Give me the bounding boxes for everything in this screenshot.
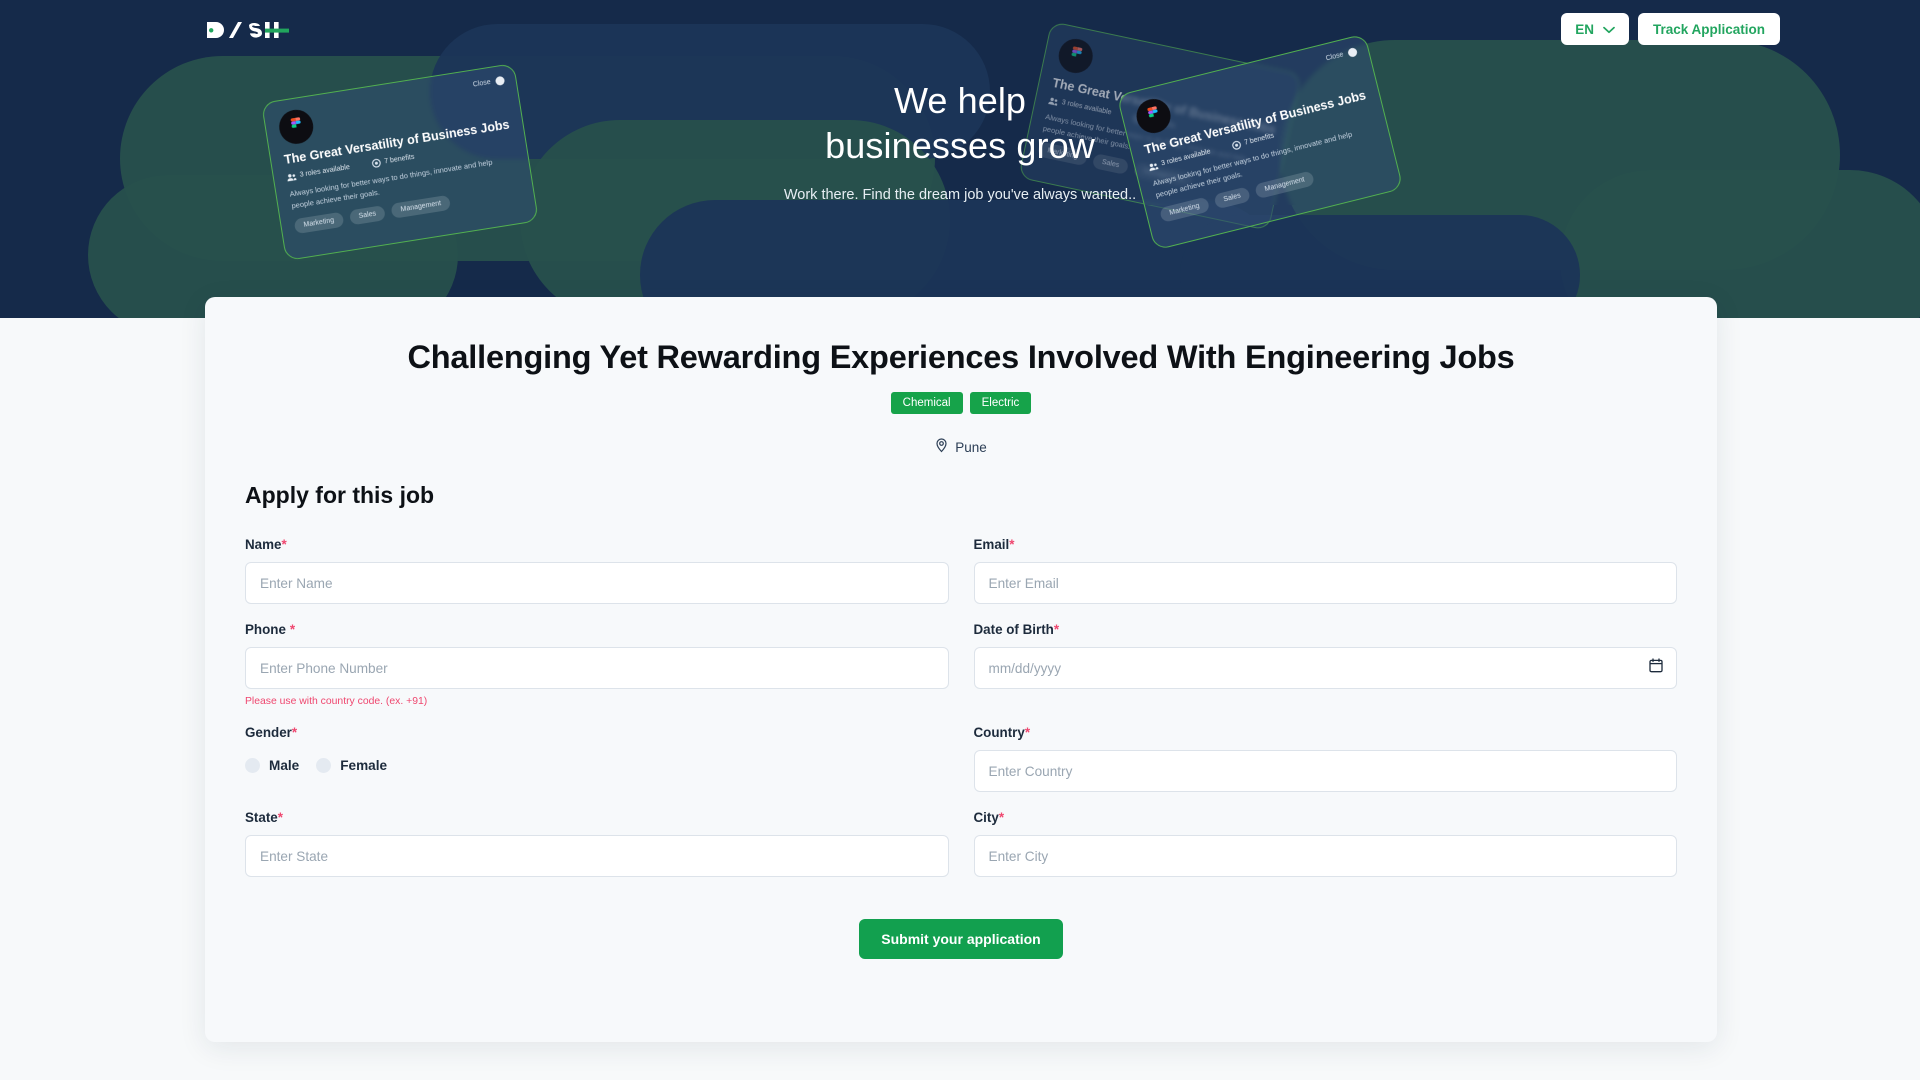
- job-tag-chemical: Chemical: [891, 392, 963, 414]
- label-name: Name*: [245, 537, 949, 552]
- required-asterisk: *: [1009, 537, 1014, 552]
- field-state: State*: [245, 810, 949, 877]
- field-city: City*: [974, 810, 1678, 877]
- application-form: Apply for this job Name* Email* Phone*: [205, 482, 1717, 959]
- required-asterisk: *: [292, 725, 297, 740]
- gender-male-label: Male: [269, 758, 299, 773]
- dob-input-wrapper: [974, 647, 1678, 689]
- hero-subtitle: Work there. Find the dream job you've al…: [0, 187, 1920, 203]
- submit-application-button[interactable]: Submit your application: [859, 919, 1062, 959]
- gender-female-label: Female: [340, 758, 387, 773]
- label-city: City*: [974, 810, 1678, 825]
- page-title: Challenging Yet Rewarding Experiences In…: [205, 297, 1717, 376]
- field-dob: Date of Birth*: [974, 622, 1678, 707]
- state-input[interactable]: [245, 835, 949, 877]
- required-asterisk: *: [1025, 725, 1030, 740]
- field-gender: Gender* Male Female: [245, 725, 949, 792]
- label-dob: Date of Birth*: [974, 622, 1678, 637]
- job-location: Pune: [205, 438, 1717, 456]
- language-selector[interactable]: EN: [1561, 13, 1629, 45]
- phone-hint: Please use with country code. (ex. +91): [245, 696, 949, 707]
- card-tag: Marketing: [294, 211, 344, 233]
- dash-wordmark-logo[interactable]: [205, 16, 289, 42]
- name-input[interactable]: [245, 562, 949, 604]
- field-name: Name*: [245, 537, 949, 604]
- required-asterisk: *: [278, 810, 283, 825]
- job-tag-electric: Electric: [970, 392, 1032, 414]
- phone-input[interactable]: [245, 647, 949, 689]
- field-country: Country*: [974, 725, 1678, 792]
- radio-male-icon[interactable]: [245, 758, 260, 773]
- label-gender: Gender*: [245, 725, 949, 740]
- hero-section: EN Track Application We help businesses …: [0, 0, 1920, 318]
- radio-female-icon[interactable]: [316, 758, 331, 773]
- required-asterisk: *: [281, 537, 286, 552]
- hero-copy: We help businesses grow Work there. Find…: [0, 78, 1920, 203]
- hero-title-line1: We help: [0, 78, 1920, 123]
- label-country: Country*: [974, 725, 1678, 740]
- submit-row: Submit your application: [245, 919, 1677, 959]
- job-location-label: Pune: [955, 440, 987, 455]
- required-asterisk: *: [999, 810, 1004, 825]
- dob-input[interactable]: [974, 647, 1678, 689]
- label-state: State*: [245, 810, 949, 825]
- chevron-down-icon: [1603, 22, 1615, 37]
- label-email: Email*: [974, 537, 1678, 552]
- country-input[interactable]: [974, 750, 1678, 792]
- label-phone: Phone*: [245, 622, 949, 637]
- field-email: Email*: [974, 537, 1678, 604]
- map-pin-icon: [935, 438, 948, 456]
- language-label: EN: [1575, 22, 1594, 37]
- form-heading: Apply for this job: [245, 482, 1677, 509]
- hero-title-line2: businesses grow: [0, 123, 1920, 168]
- form-grid: Name* Email* Phone* Please use with coun…: [245, 537, 1677, 877]
- gender-option-female[interactable]: Female: [316, 758, 387, 773]
- field-phone: Phone* Please use with country code. (ex…: [245, 622, 949, 707]
- required-asterisk: *: [286, 622, 295, 637]
- required-asterisk: *: [1054, 622, 1059, 637]
- navbar: EN Track Application: [0, 0, 1920, 58]
- job-tag-list: Chemical Electric: [205, 392, 1717, 414]
- gender-option-male[interactable]: Male: [245, 758, 299, 773]
- track-application-button[interactable]: Track Application: [1638, 13, 1780, 45]
- city-input[interactable]: [974, 835, 1678, 877]
- card-tag: Sales: [349, 205, 386, 225]
- gender-radio-group: Male Female: [245, 753, 949, 777]
- email-input[interactable]: [974, 562, 1678, 604]
- application-panel: Challenging Yet Rewarding Experiences In…: [205, 297, 1717, 1042]
- navbar-actions: EN Track Application: [1561, 13, 1780, 45]
- hero-title: We help businesses grow: [0, 78, 1920, 169]
